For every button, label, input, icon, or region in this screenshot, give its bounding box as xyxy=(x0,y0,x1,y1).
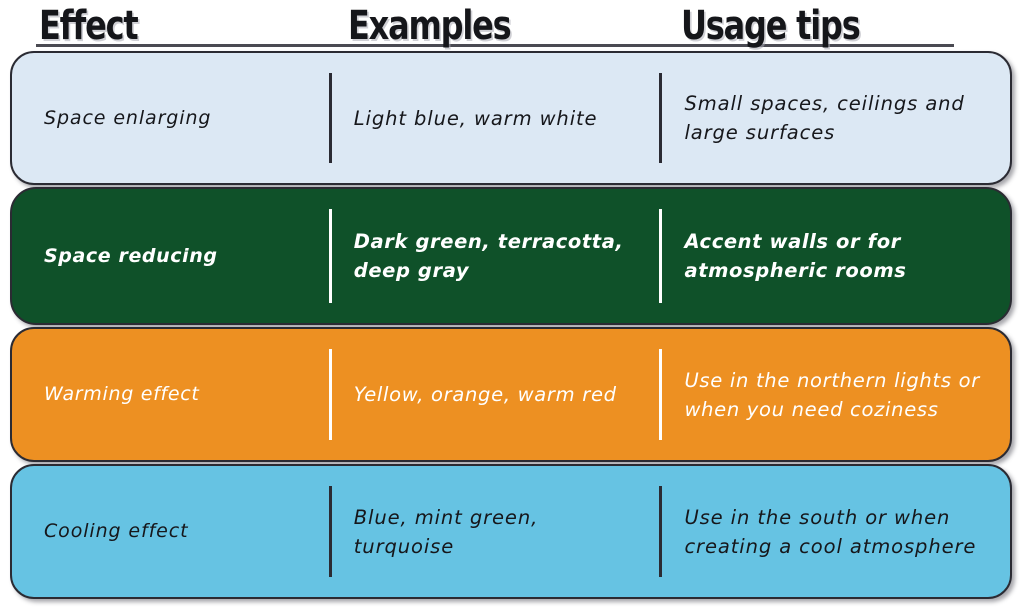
table-header-row: Effect Examples Usage tips xyxy=(0,0,1024,52)
cell-effect-text: Cooling effect xyxy=(44,517,188,546)
cell-effect: Cooling effect xyxy=(12,466,328,597)
table-row: Cooling effect Blue, mint green, turquoi… xyxy=(10,464,1012,599)
column-header-examples: Examples xyxy=(348,6,510,46)
cell-examples: Blue, mint green, turquoise xyxy=(328,466,657,597)
cell-examples-text: Yellow, orange, warm red xyxy=(354,380,617,409)
cell-usage-text: Small spaces, ceilings and large surface… xyxy=(684,89,992,147)
cell-examples-text: Dark green, terracotta, deep gray xyxy=(354,227,639,285)
cell-examples-text: Blue, mint green, turquoise xyxy=(354,503,639,561)
cell-examples: Yellow, orange, warm red xyxy=(328,329,657,460)
cell-usage-tips: Use in the northern lights or when you n… xyxy=(656,329,1010,460)
cell-effect: Space enlarging xyxy=(12,53,328,183)
table-row: Space enlarging Light blue, warm white S… xyxy=(10,51,1012,185)
table-row: Space reducing Dark green, terracotta, d… xyxy=(10,187,1012,325)
cell-usage-tips: Small spaces, ceilings and large surface… xyxy=(656,53,1010,183)
cell-effect: Warming effect xyxy=(12,329,328,460)
column-header-usage-tips: Usage tips xyxy=(681,6,860,46)
cell-effect-text: Space reducing xyxy=(44,242,218,271)
cell-usage-text: Accent walls or for atmospheric rooms xyxy=(684,227,992,285)
table-row: Warming effect Yellow, orange, warm red … xyxy=(10,327,1012,462)
cell-usage-text: Use in the south or when creating a cool… xyxy=(684,503,992,561)
cell-usage-text: Use in the northern lights or when you n… xyxy=(684,366,992,424)
cell-examples-text: Light blue, warm white xyxy=(354,104,598,133)
column-header-effect: Effect xyxy=(39,6,137,46)
cell-examples: Dark green, terracotta, deep gray xyxy=(328,189,657,323)
cell-effect: Space reducing xyxy=(12,189,328,323)
color-effect-table: Effect Examples Usage tips Space enlargi… xyxy=(0,0,1024,607)
cell-effect-text: Space enlarging xyxy=(44,104,211,133)
cell-examples: Light blue, warm white xyxy=(328,53,657,183)
cell-effect-text: Warming effect xyxy=(44,380,200,409)
cell-usage-tips: Use in the south or when creating a cool… xyxy=(656,466,1010,597)
cell-usage-tips: Accent walls or for atmospheric rooms xyxy=(656,189,1010,323)
